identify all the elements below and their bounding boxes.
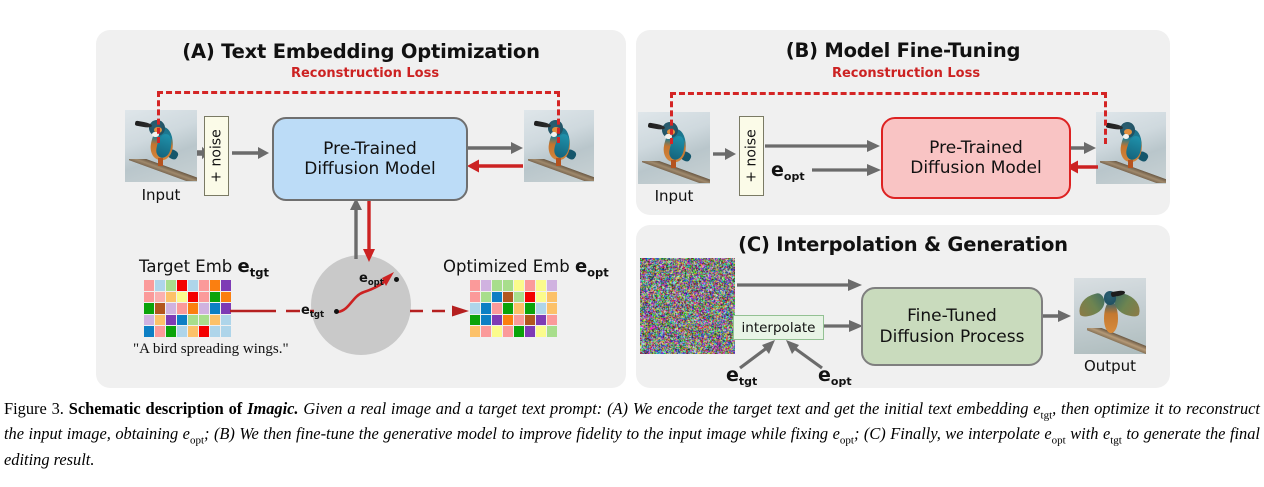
embedding-cell [210,280,220,291]
optimized-emb-title: Optimized Emb eopt [443,256,609,279]
embedding-cell [221,292,231,303]
embedding-cell [514,315,524,326]
embedding-cell [166,303,176,314]
arrow-model-to-output-c [1040,309,1072,323]
embedding-cell [155,280,165,291]
target-emb-sub: tgt [250,265,269,279]
target-embedding-grid [144,280,231,337]
kingfisher-perched-b [638,112,710,184]
arrow-model-to-output-b [1069,141,1097,155]
caption-sub-opt-3: opt [1052,435,1066,447]
optimized-emb-sub: opt [587,265,609,279]
caption-title-plain: Schematic description of [69,399,247,418]
embedding-cell [177,280,187,291]
embedding-cell [210,326,220,337]
panel-a-loss-label: Reconstruction Loss [232,66,498,81]
add-noise-box-a: + noise [204,116,229,196]
embedding-cell [199,280,209,291]
embedding-cell [492,280,502,291]
model-line-1-a: Pre-Trained [304,139,436,159]
embedding-cell [177,292,187,303]
embedding-cell [155,315,165,326]
embedding-cell [547,280,557,291]
input-label-b: Input [638,187,710,205]
embedding-cell [144,280,154,291]
embedding-cell [199,303,209,314]
point-e-tgt-sub: tgt [310,310,324,320]
target-emb-symbol: e [238,256,250,277]
embedding-cell [492,303,502,314]
embedding-cell [492,315,502,326]
embedding-cell [470,303,480,314]
arrow-noise-to-model-b [765,139,881,153]
embedding-cell [481,292,491,303]
embedding-cell [166,292,176,303]
caption-sub-opt-1: opt [190,435,204,447]
noise-label-b: + noise [744,129,760,182]
caption-body-3: ; (B) We then fine-tune the generative m… [204,424,840,443]
embedding-cell [503,326,513,337]
embedding-cell [470,326,480,337]
point-e-tgt-label: etgt [301,303,324,320]
embedding-cell [188,292,198,303]
embedding-cell [188,303,198,314]
arrow-noise-to-model-c [737,278,863,292]
embedding-cell [221,280,231,291]
kingfisher-perched-a [125,110,197,182]
embedding-cell [503,292,513,303]
embedding-cell [536,315,546,326]
embedding-cell [199,292,209,303]
embedding-cell [514,303,524,314]
embedding-cell [210,303,220,314]
embedding-cell [536,280,546,291]
figure-caption: Figure 3. Schematic description of Imagi… [4,398,1260,471]
embedding-cell [470,292,480,303]
random-noise-image [640,258,735,354]
embedding-cell [481,303,491,314]
arrow-eopt-to-model-b [812,163,882,177]
interpolate-box[interactable]: interpolate [733,315,824,340]
model-line-2-b: Diffusion Model [910,158,1042,178]
point-e-tgt-symbol: e [301,303,310,318]
e-opt-label-c: eopt [818,364,852,388]
interpolate-label: interpolate [742,320,816,336]
embedding-cell [221,326,231,337]
point-e-opt-label: eopt [359,271,384,288]
arrow-interpolate-to-model-c [824,319,864,333]
caption-sub-tgt-1: tgt [1041,409,1053,421]
e-tgt-sub-c: tgt [739,375,757,388]
embedding-cell [492,326,502,337]
point-e-tgt-dot [334,309,339,314]
caption-body-5: with e [1066,424,1111,443]
arrow-model-to-output-a [466,141,524,155]
embedding-cell [188,280,198,291]
arrow-emb-to-model-a [349,197,363,259]
panel-a-title: (A) Text Embedding Optimization [96,40,626,63]
embedding-cell [503,280,513,291]
add-noise-box-b: + noise [739,116,764,196]
e-opt-label-b: eopt [771,159,805,183]
embedding-cell [525,280,535,291]
caption-figure-number: Figure 3. [4,399,64,418]
embedding-cell [481,280,491,291]
input-image-b [638,112,710,184]
arrow-noise-to-model-a [232,146,270,160]
embedding-cell [525,292,535,303]
finetuned-diffusion-process-box: Fine-Tuned Diffusion Process [861,287,1043,366]
embedding-cell [547,315,557,326]
model-line-2-a: Diffusion Model [304,159,436,179]
optimized-emb-symbol: e [575,256,587,277]
embedding-cell [547,303,557,314]
caption-title-italic: Imagic. [247,399,298,418]
optimized-embedding-grid [470,280,557,337]
embedding-cell [177,326,187,337]
embedding-cell [144,292,154,303]
embedding-cell [470,280,480,291]
arrow-model-to-emb-red-a [362,197,376,263]
embedding-cell [503,303,513,314]
kingfisher-flying [1074,278,1146,354]
optimized-emb-text: Optimized Emb [443,257,570,276]
embedding-cell [514,326,524,337]
output-label-c: Output [1074,357,1146,375]
point-e-opt-dot [394,277,399,282]
embedding-cell [188,315,198,326]
embedding-cell [177,315,187,326]
e-tgt-label-c: etgt [726,364,757,388]
point-e-opt-symbol: e [359,271,368,286]
embedding-cell [177,303,187,314]
embedding-cell [547,326,557,337]
input-image-a [125,110,197,182]
embedding-cell [547,292,557,303]
embedding-cell [144,326,154,337]
embedding-cell [155,303,165,314]
target-emb-title: Target Emb etgt [139,256,269,279]
model-line-2-c: Diffusion Process [880,327,1025,347]
pretrained-diffusion-model-box-a: Pre-Trained Diffusion Model [272,117,468,201]
output-image-c [1074,278,1146,354]
embedding-cell [166,326,176,337]
embedding-cell [514,292,524,303]
embedding-cell [536,326,546,337]
embedding-cell [525,326,535,337]
model-line-1-b: Pre-Trained [910,138,1042,158]
pretrained-diffusion-model-box-b: Pre-Trained Diffusion Model [881,117,1071,199]
e-opt-symbol-b: e [771,159,784,181]
e-opt-sub-b: opt [784,170,805,183]
noise-label-a: + noise [209,129,225,182]
embedding-cell [503,315,513,326]
arrow-output-to-model-red-a [466,158,524,174]
embedding-cell [481,326,491,337]
embedding-cell [536,292,546,303]
embedding-cell [210,292,220,303]
embedding-cell [199,315,209,326]
embedding-cell [525,315,535,326]
caption-sub-tgt-2: tgt [1110,435,1122,447]
embedding-cell [166,280,176,291]
input-label-a: Input [125,186,197,204]
target-prompt-text: "A bird spreading wings." [133,341,289,358]
embedding-cell [210,315,220,326]
panel-b-title: (B) Model Fine-Tuning [636,39,1170,62]
embedding-cell [199,326,209,337]
arrow-input-to-noise-b [713,147,737,161]
embedding-cell [144,315,154,326]
caption-sub-opt-2: opt [840,435,854,447]
caption-body-1: Given a real image and a target text pro… [303,399,1040,418]
target-emb-text: Target Emb [139,257,232,276]
embedding-cell [492,292,502,303]
embedding-cell [514,280,524,291]
embedding-cell [155,292,165,303]
embedding-cell [536,303,546,314]
embedding-cell [188,326,198,337]
model-line-1-c: Fine-Tuned [880,306,1025,326]
point-e-opt-sub: opt [368,278,384,288]
figure-root: (A) Text Embedding Optimization Reconstr… [0,0,1264,487]
e-tgt-symbol-c: e [726,364,739,386]
embedding-cell [144,303,154,314]
embedding-cell [166,315,176,326]
e-opt-sub-c: opt [831,375,852,388]
embedding-cell [221,315,231,326]
embedding-cell [481,315,491,326]
panel-c-title: (C) Interpolation & Generation [636,233,1170,256]
embedding-cell [525,303,535,314]
caption-body-4: ; (C) Finally, we interpolate e [854,424,1052,443]
arrow-circle-to-optimized-emb [410,305,470,317]
embedding-cell [155,326,165,337]
panel-b-loss-label: Reconstruction Loss [773,66,1039,81]
e-opt-symbol-c: e [818,364,831,386]
embedding-cell [470,315,480,326]
